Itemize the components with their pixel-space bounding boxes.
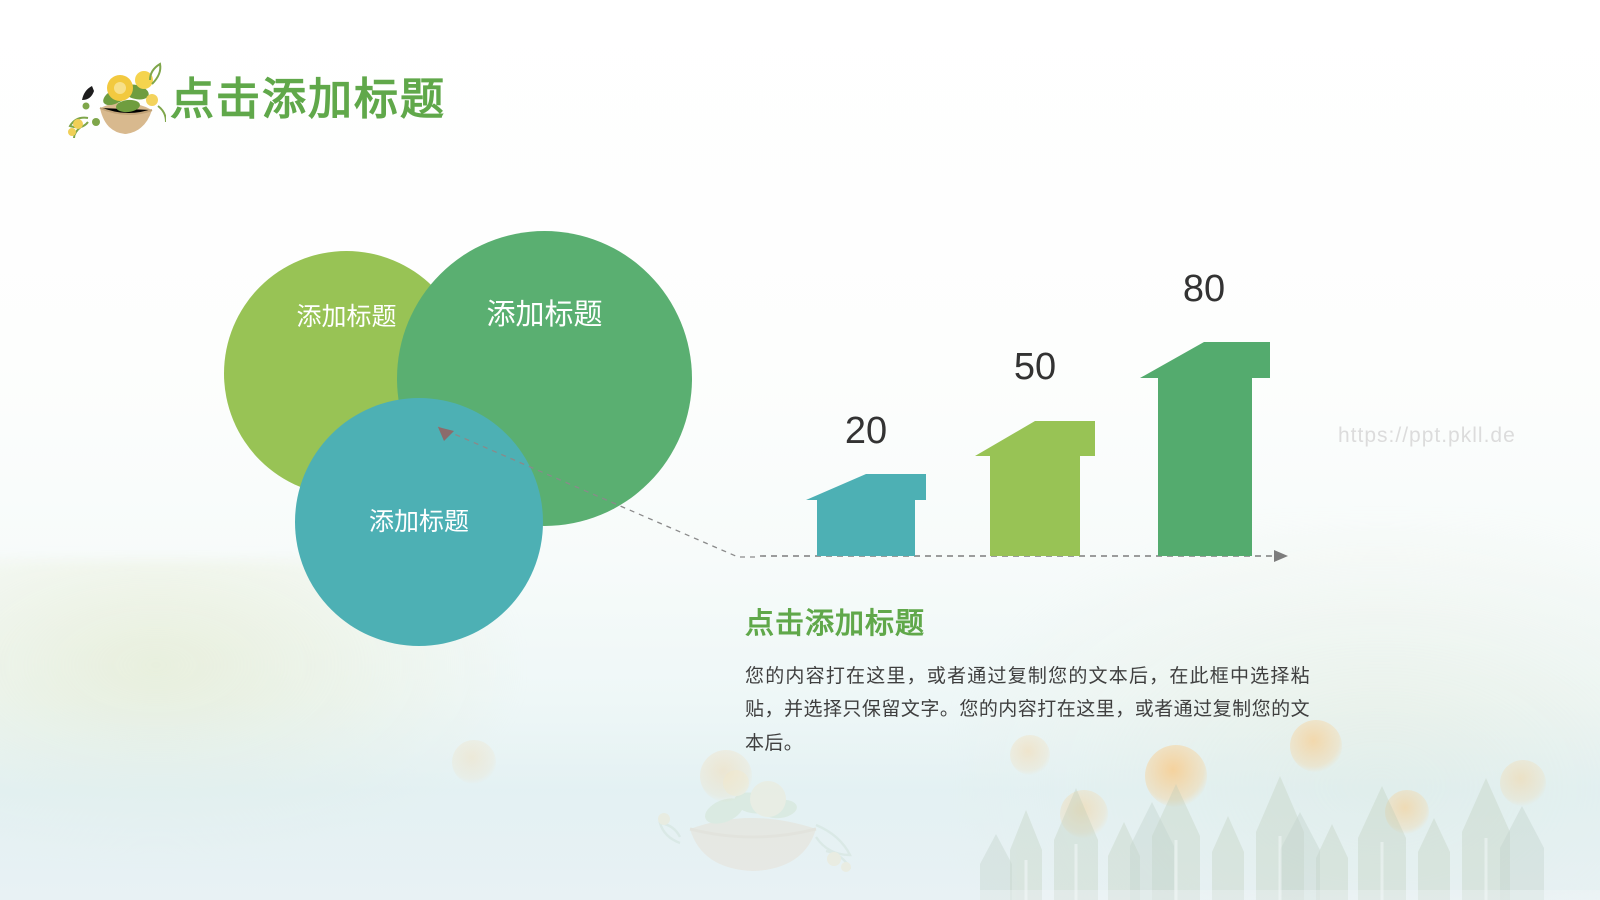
dashed-arrow-connector-icon (400, 405, 760, 570)
arrow-bar-2 (1140, 342, 1270, 556)
copy-block: 点击添加标题 您的内容打在这里，或者通过复制您的文本后，在此框中选择粘贴，并选择… (745, 600, 1310, 760)
copy-title: 点击添加标题 (745, 600, 1310, 642)
blossom-icon (452, 740, 496, 784)
slide-canvas: 点击添加标题 添加标题 添加标题 添加标题 (0, 0, 1600, 900)
watermark: https://ppt.pkll.de (1338, 424, 1516, 448)
arrow-bar-chart (760, 270, 1320, 570)
tree-silhouettes-icon (980, 740, 1600, 900)
arrow-bar-0 (806, 474, 926, 556)
arrow-bar-1 (975, 421, 1095, 556)
blossom-icon (1060, 790, 1108, 838)
copy-body: 您的内容打在这里，或者通过复制您的文本后，在此框中选择粘贴，并选择只保留文字。您… (745, 660, 1310, 760)
page-title: 点击添加标题 (170, 78, 446, 122)
flower-basket-icon (620, 755, 950, 885)
page-header: 点击添加标题 (48, 62, 446, 138)
flower-basket-icon (48, 62, 166, 138)
blossom-icon (1500, 760, 1546, 806)
blossom-icon (1385, 790, 1429, 834)
